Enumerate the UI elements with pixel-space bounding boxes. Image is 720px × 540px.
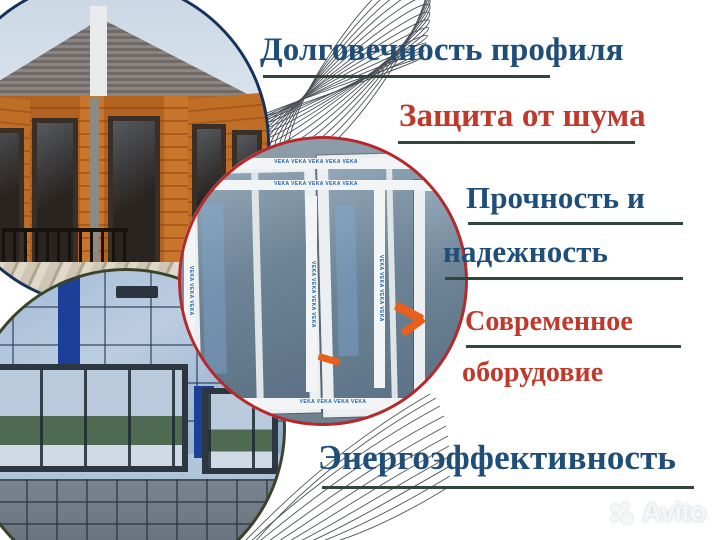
facade-window-main bbox=[0, 364, 188, 472]
headline-rule-5 bbox=[466, 345, 681, 348]
avito-watermark: Avito bbox=[611, 499, 706, 526]
advertisement-banner: VEKA VEKA VEKA VEKA VEKA VEKA VEKA VEKA … bbox=[0, 0, 720, 540]
veka-tape-bottom: VEKA VEKA VEKA VEKA bbox=[238, 398, 428, 409]
veka-tape-top: VEKA VEKA VEKA VEKA VEKA bbox=[194, 158, 438, 169]
headline-rule-2 bbox=[398, 141, 635, 144]
headline-noise-protection: Защита от шума bbox=[399, 99, 646, 133]
veka-mullion-1 bbox=[251, 173, 264, 403]
medallion-windows: VEKA VEKA VEKA VEKA VEKA VEKA VEKA VEKA … bbox=[178, 136, 468, 426]
veka-tape-top-2: VEKA VEKA VEKA VEKA VEKA bbox=[196, 180, 436, 190]
headline-rule-3 bbox=[468, 222, 683, 225]
veka-mullion-2 bbox=[386, 165, 398, 405]
headline-equipment-line-2: оборудовие bbox=[462, 358, 603, 387]
facade-vent-1 bbox=[116, 286, 158, 298]
veka-window-unit-1 bbox=[185, 160, 321, 415]
house-roof-ridge bbox=[90, 6, 107, 98]
veka-tape-mid-2: VEKA VEKA VEKA VEKA bbox=[374, 188, 385, 388]
headline-rule-1 bbox=[263, 75, 550, 78]
headline-rule-7 bbox=[322, 486, 694, 489]
veka-tape-left: VEKA VEKA VEKA bbox=[184, 206, 195, 376]
avito-logo-icon bbox=[611, 502, 637, 524]
protective-film-2 bbox=[335, 206, 359, 356]
headline-durability: Долговечность профиля bbox=[260, 33, 624, 67]
avito-wordmark: Avito bbox=[642, 499, 706, 526]
headline-strength-line-1: Прочность и bbox=[466, 182, 645, 214]
facade-stone-base bbox=[0, 479, 286, 540]
photo-veka-windows: VEKA VEKA VEKA VEKA VEKA VEKA VEKA VEKA … bbox=[178, 136, 468, 426]
headline-energy-efficiency: Энергоэффективность bbox=[318, 440, 676, 476]
headline-rule-4 bbox=[445, 277, 683, 280]
headline-equipment-line-1: Современное bbox=[465, 307, 633, 336]
protective-film-1 bbox=[201, 204, 227, 374]
headline-strength-line-2: надежность bbox=[443, 236, 608, 268]
veka-window-unit-3 bbox=[414, 180, 468, 394]
veka-tape-mid-1: VEKA VEKA VEKA VEKA bbox=[306, 196, 317, 392]
